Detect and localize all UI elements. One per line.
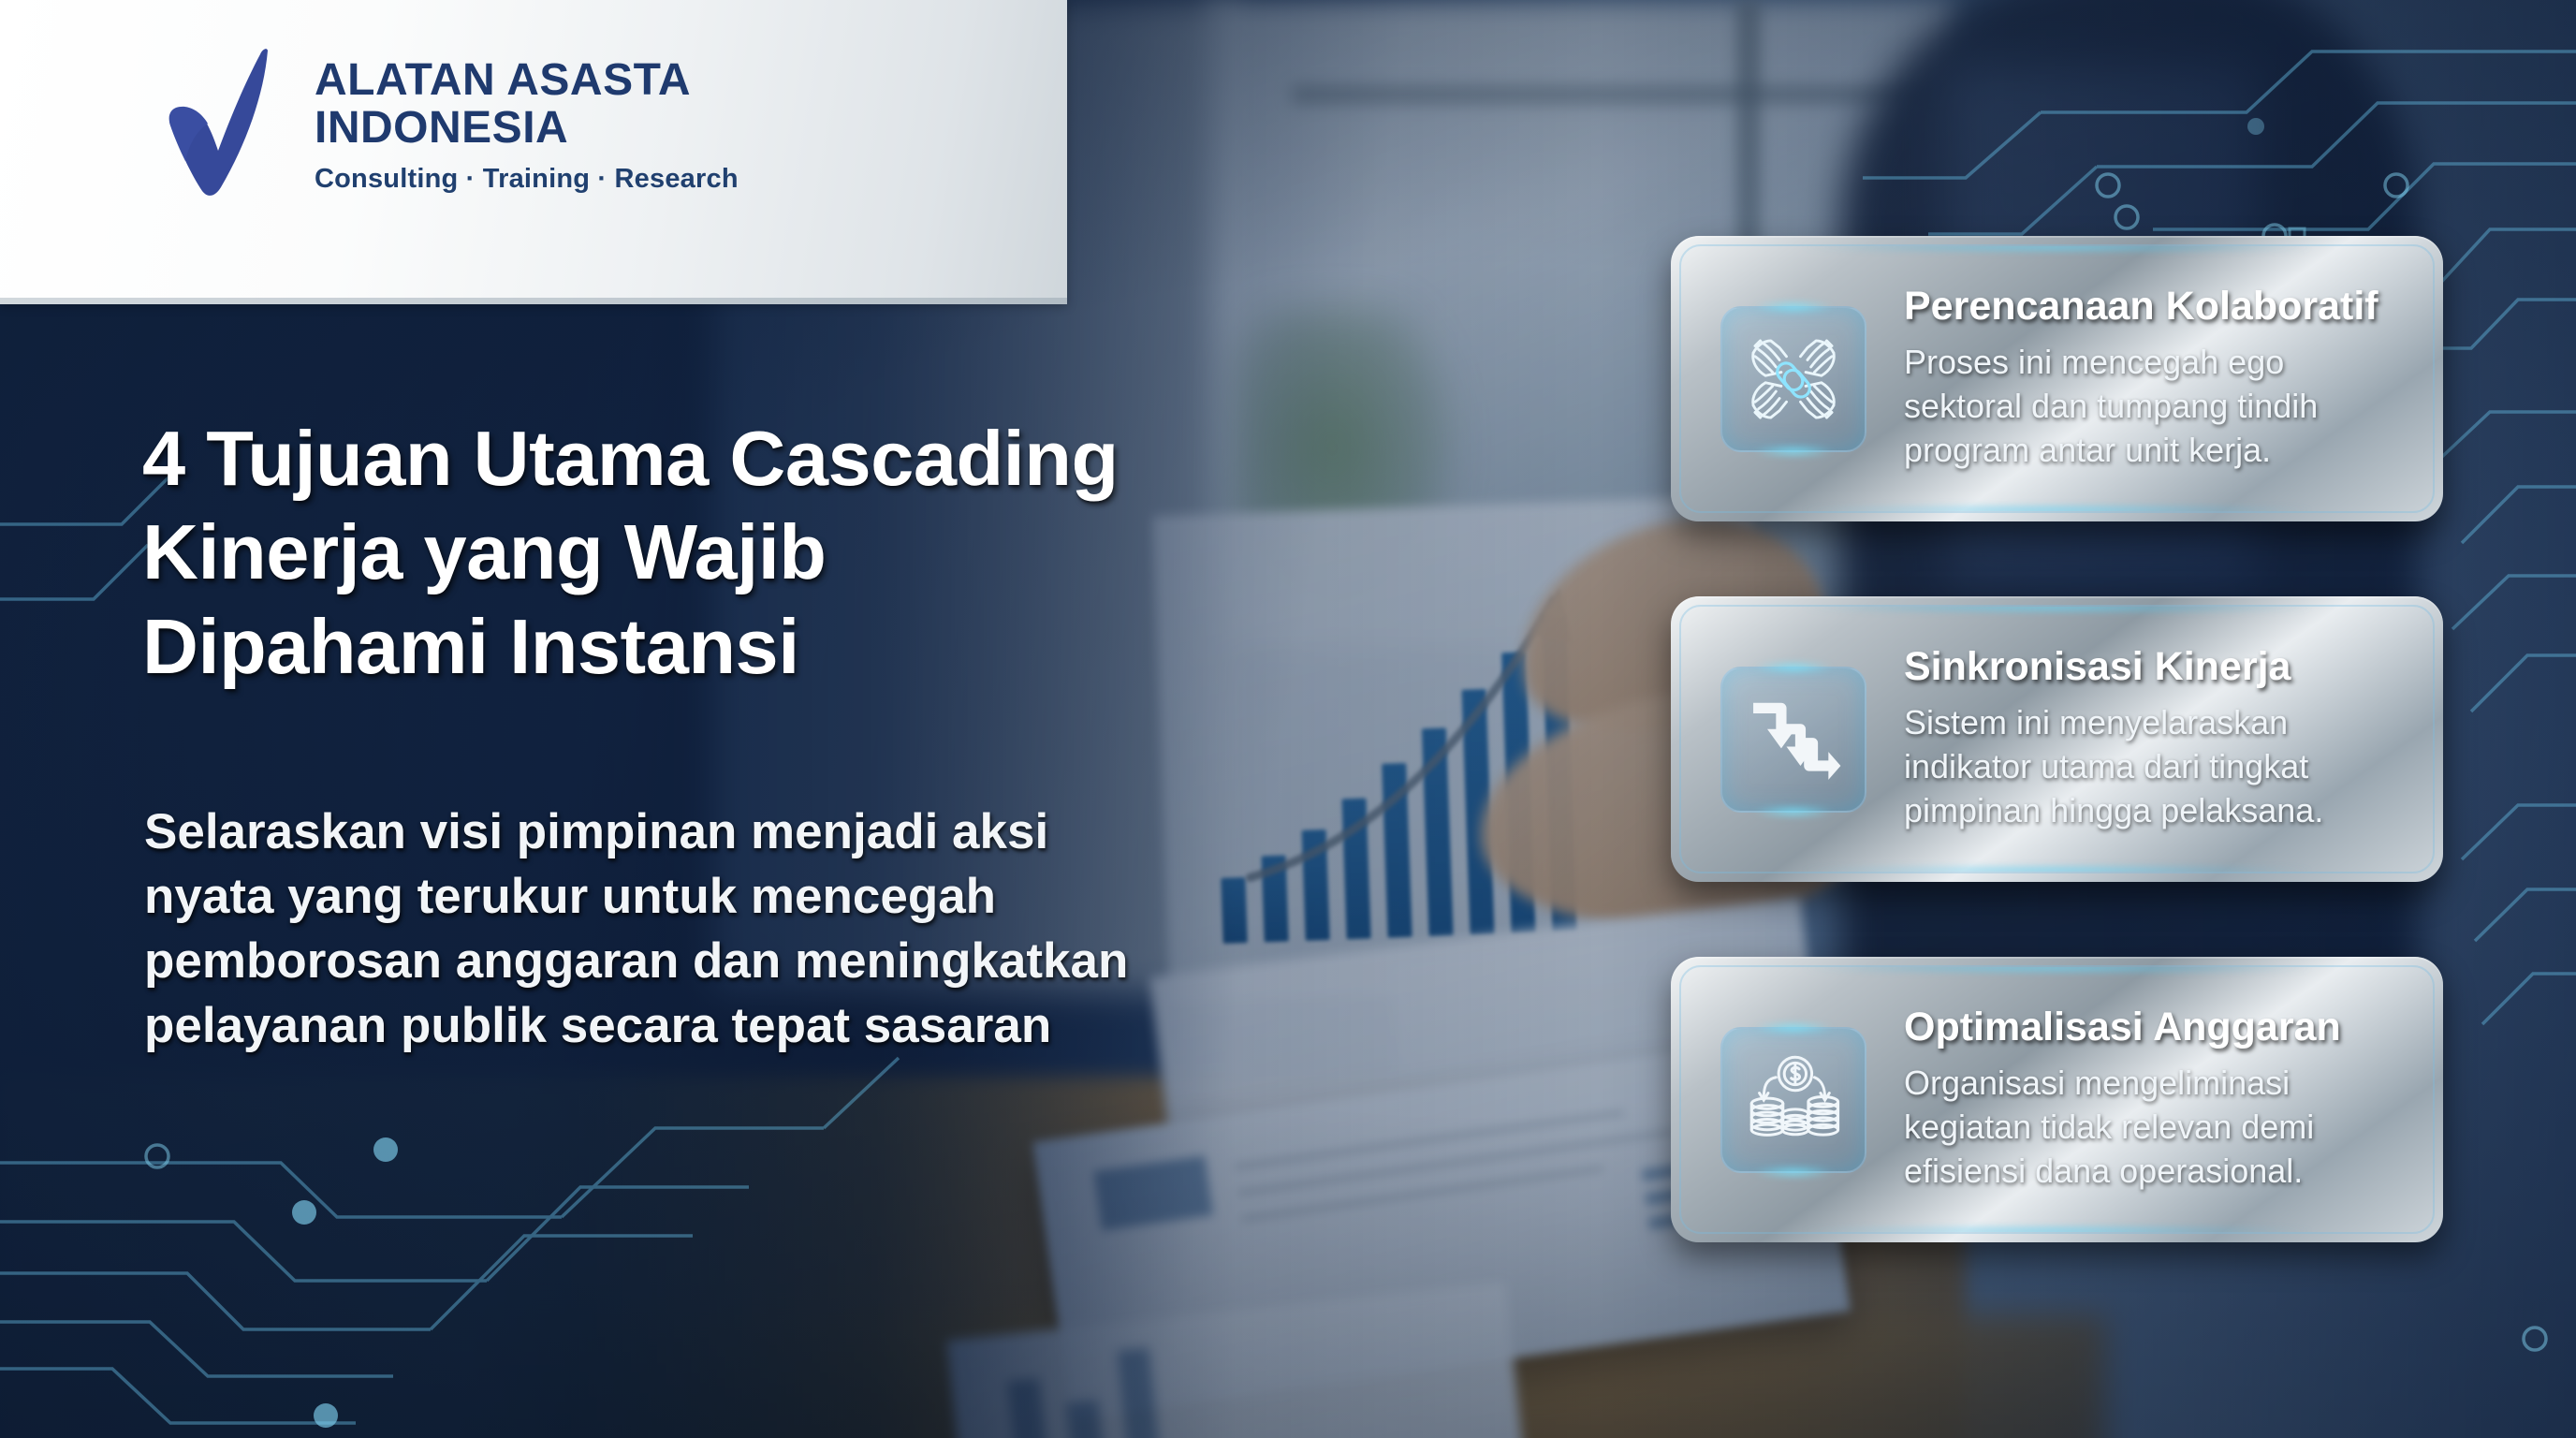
brand-logo[interactable]: ALATAN ASASTA INDONESIA Consulting · Tra…: [167, 45, 739, 199]
feature-card-list: Perencanaan Kolaboratif Proses ini mence…: [1671, 236, 2443, 1317]
collaborating-hands-chain-link-icon: [1741, 327, 1846, 432]
page-headline: 4 Tujuan Utama Cascading Kinerja yang Wa…: [142, 412, 1172, 694]
card-title: Optimalisasi Anggaran: [1904, 1005, 2401, 1049]
feature-card[interactable]: Sinkronisasi Kinerja Sistem ini menyelar…: [1671, 596, 2443, 882]
card-description: Organisasi mengeliminasi kegiatan tidak …: [1904, 1062, 2401, 1193]
card-icon-frame: [1720, 306, 1866, 452]
card-glow-bottom: [1801, 1226, 2312, 1234]
card-icon-frame: [1720, 667, 1866, 813]
checkmark-swoosh-icon: [167, 45, 290, 199]
feature-card[interactable]: Optimalisasi Anggaran Organisasi mengeli…: [1671, 957, 2443, 1242]
card-glow-top: [1801, 605, 2312, 612]
header-band: ALATAN ASASTA INDONESIA Consulting · Tra…: [0, 0, 1067, 304]
brand-line-1: ALATAN ASASTA: [315, 56, 739, 104]
card-description: Proses ini mencegah ego sektoral dan tum…: [1904, 341, 2401, 472]
feature-card[interactable]: Perencanaan Kolaboratif Proses ini mence…: [1671, 236, 2443, 521]
card-text-block: Perencanaan Kolaboratif Proses ini mence…: [1866, 285, 2433, 473]
card-description: Sistem ini menyelaraskan indikator utama…: [1904, 701, 2401, 832]
card-glow-top: [1801, 244, 2312, 252]
card-glow-top: [1801, 965, 2312, 973]
card-text-block: Optimalisasi Anggaran Organisasi mengeli…: [1866, 1005, 2433, 1194]
card-icon-frame: [1720, 1027, 1866, 1173]
card-title: Sinkronisasi Kinerja: [1904, 645, 2401, 689]
page-subheadline: Selaraskan visi pimpinan menjadi aksi ny…: [144, 800, 1136, 1059]
infographic-poster: ALATAN ASASTA INDONESIA Consulting · Tra…: [0, 0, 2576, 1438]
card-title: Perencanaan Kolaboratif: [1904, 285, 2401, 329]
brand-line-2: INDONESIA: [315, 104, 739, 152]
brand-tagline: Consulting · Training · Research: [315, 164, 739, 195]
card-glow-bottom: [1801, 866, 2312, 873]
brand-wordmark: ALATAN ASASTA INDONESIA Consulting · Tra…: [315, 45, 739, 195]
card-text-block: Sinkronisasi Kinerja Sistem ini menyelar…: [1866, 645, 2433, 833]
coin-stacks-dollar-icon: [1741, 1048, 1846, 1152]
cascading-arrows-icon: [1741, 687, 1846, 792]
card-glow-bottom: [1801, 506, 2312, 513]
